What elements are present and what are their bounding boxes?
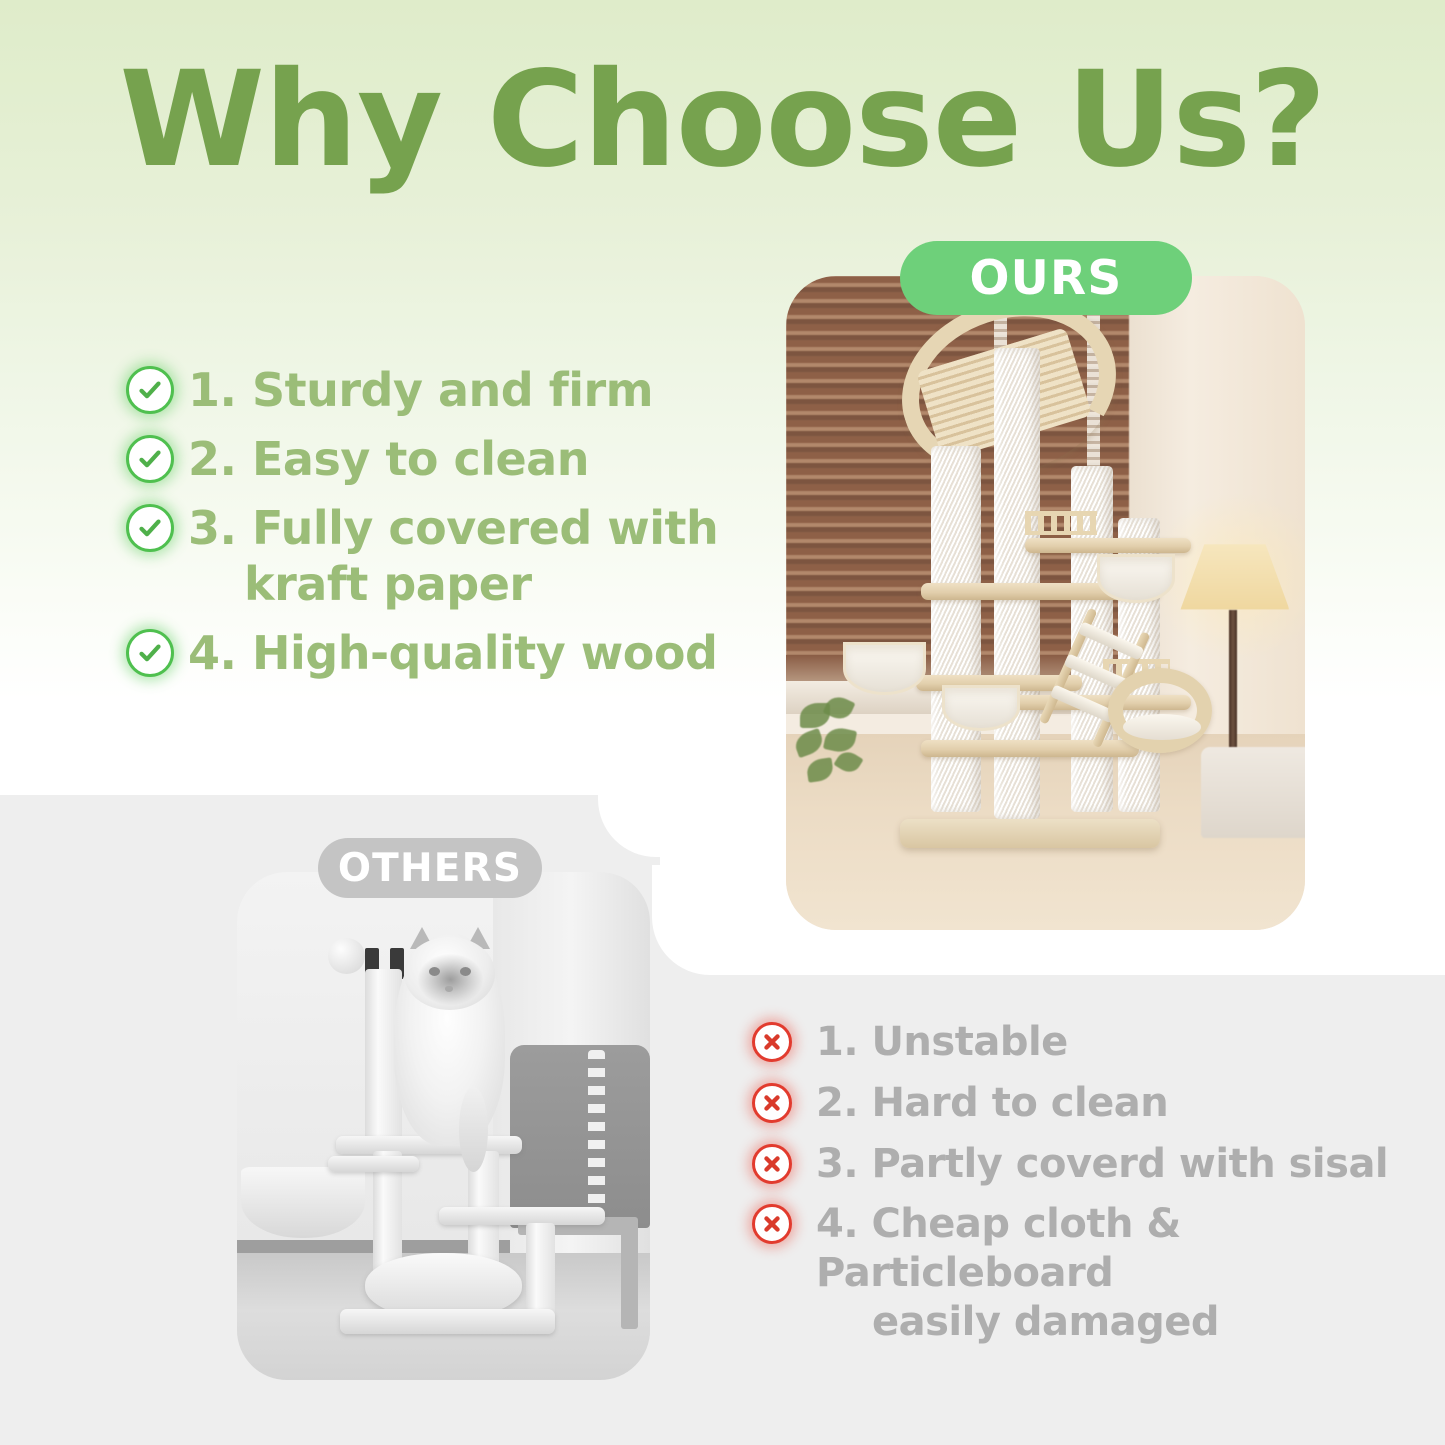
- x-circle-icon: [752, 1144, 792, 1184]
- cons-item-label-line2: easily damaged: [816, 1298, 1219, 1347]
- sisal-post: [931, 446, 980, 812]
- tunnel: [1108, 668, 1212, 753]
- list-item: 4. High-quality wood: [126, 625, 766, 681]
- cons-item-label-line1: 4. Cheap cloth & Particleboard: [816, 1201, 1181, 1296]
- check-circle-icon: [126, 504, 174, 552]
- check-circle-icon: [126, 435, 174, 483]
- platform: [1025, 538, 1191, 554]
- list-item: 3. Partly coverd with sisal: [752, 1140, 1422, 1189]
- hammock: [942, 685, 1020, 731]
- hammock-basket: [241, 1162, 365, 1238]
- list-item: 3. Fully covered with kraft paper: [126, 500, 766, 612]
- x-circle-icon: [752, 1022, 792, 1062]
- step-platform: [439, 1207, 604, 1225]
- ottoman: [1201, 747, 1305, 839]
- others-scene: [237, 872, 650, 1380]
- list-item: 4. Cheap cloth & Particleboard easily da…: [752, 1200, 1422, 1346]
- cons-list: 1. Unstable 2. Hard to clean 3.: [752, 1018, 1422, 1359]
- list-item: 1. Unstable: [752, 1018, 1422, 1067]
- cat-eye-left: [429, 967, 440, 976]
- list-item: 2. Hard to clean: [752, 1079, 1422, 1128]
- pros-item-label-line2: kraft paper: [188, 556, 532, 612]
- armchair: [510, 1045, 650, 1228]
- check-circle-icon: [126, 366, 174, 414]
- x-circle-icon: [752, 1083, 792, 1123]
- base-board: [340, 1309, 555, 1334]
- platform: [328, 1156, 419, 1171]
- ours-badge: OURS: [900, 241, 1192, 315]
- others-badge: OTHERS: [318, 838, 542, 898]
- house-plant: [791, 695, 879, 806]
- x-circle-icon: [752, 1204, 792, 1244]
- pros-item-label: 2. Easy to clean: [184, 431, 766, 487]
- dangling-ball-toy: [328, 938, 365, 974]
- others-product-photo: [237, 872, 650, 1380]
- armchair-studs: [588, 1050, 605, 1213]
- hammock: [1097, 554, 1175, 603]
- base-board: [900, 819, 1160, 848]
- cons-item-label: 2. Hard to clean: [814, 1079, 1422, 1128]
- pros-item-label-line1: 3. Fully covered with: [188, 501, 718, 555]
- check-circle-icon: [126, 629, 174, 677]
- page-title: Why Choose Us?: [0, 54, 1445, 186]
- pros-item-label: 1. Sturdy and firm: [184, 362, 766, 418]
- cons-item-label: 1. Unstable: [814, 1018, 1422, 1067]
- list-item: 1. Sturdy and firm: [126, 362, 766, 418]
- cons-item-label: 3. Partly coverd with sisal: [814, 1140, 1422, 1189]
- comparison-infographic: Why Choose Us? 1. Sturdy and firm: [0, 0, 1445, 1445]
- ours-scene: [786, 276, 1305, 930]
- cat: [394, 933, 506, 1146]
- list-item: 2. Easy to clean: [126, 431, 766, 487]
- ours-product-photo: [786, 276, 1305, 930]
- grey-panel-rounded-corner: [590, 795, 660, 865]
- cat-eye-right: [460, 967, 471, 976]
- pros-list: 1. Sturdy and firm 2. Easy to clean: [126, 362, 766, 695]
- cat-tail: [459, 1087, 488, 1172]
- platform: [921, 740, 1139, 756]
- railing: [1025, 511, 1098, 535]
- armchair-leg: [621, 1217, 638, 1329]
- hammock: [843, 642, 926, 694]
- pros-item-label: 4. High-quality wood: [184, 625, 766, 681]
